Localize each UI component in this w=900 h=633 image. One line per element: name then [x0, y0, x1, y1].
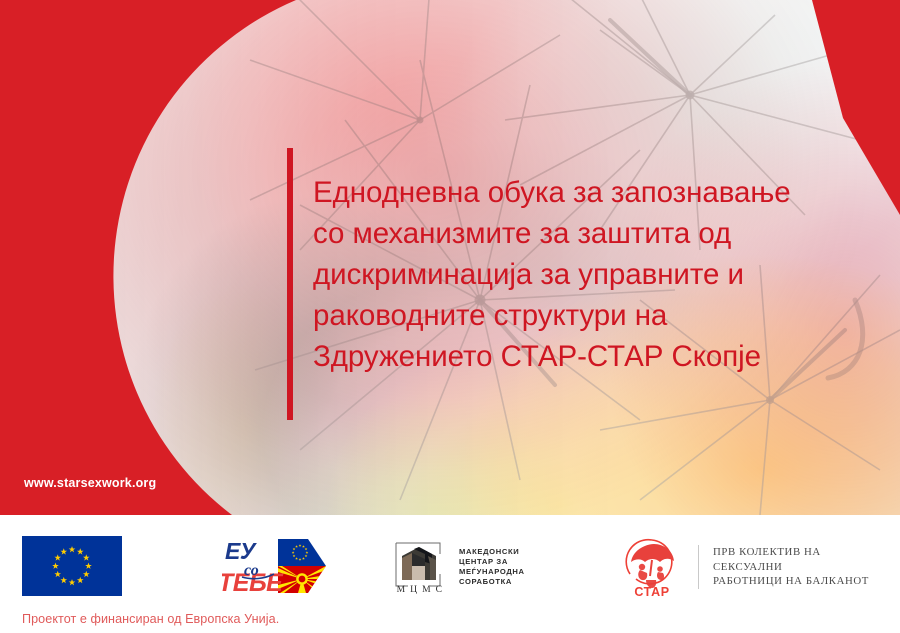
banner-title: Еднодневна обука за запознавање со механ… — [313, 172, 885, 377]
hero-photo-area: www.starsexwork.org Еднодневна обука за … — [0, 0, 900, 515]
svg-text:со: со — [244, 562, 259, 579]
star-tagline: ПРВ КОЛЕКТИВ НА СЕКСУАЛНИ РАБОТНИЦИ НА Б… — [713, 545, 886, 589]
mcms-label: МАКЕДОНСКИ ЦЕНТАР ЗА МЕЃУНАРОДНА СОРАБОТ… — [459, 547, 525, 588]
eu-flag-logo — [22, 536, 122, 596]
star-umbrella-icon: СТАР — [616, 536, 688, 598]
svg-text:М Ц М С: М Ц М С — [397, 584, 444, 594]
mcms-mark-icon: М Ц М С — [392, 540, 448, 594]
svg-text:СТАР: СТАР — [634, 585, 669, 598]
star-logo: СТАР ПРВ КОЛЕКТИВ НА СЕКСУАЛНИ РАБОТНИЦИ… — [616, 536, 886, 598]
logo-row: ЕУ ТЕБЕ со — [0, 515, 900, 611]
promotional-banner: www.starsexwork.org Еднодневна обука за … — [0, 0, 900, 633]
mcms-logo: М Ц М С МАКЕДОНСКИ ЦЕНТАР ЗА МЕЃУНАРОДНА… — [392, 539, 552, 595]
eu-so-tebe-logo: ЕУ ТЕБЕ со — [222, 533, 326, 599]
svg-text:ЕУ: ЕУ — [225, 538, 258, 564]
star-logo-divider — [698, 545, 699, 589]
website-url[interactable]: www.starsexwork.org — [24, 476, 156, 490]
funding-note: Проектот е финансиран од Европска Унија. — [22, 612, 279, 626]
footer: ЕУ ТЕБЕ со — [0, 515, 900, 633]
title-accent-bar — [287, 148, 293, 420]
